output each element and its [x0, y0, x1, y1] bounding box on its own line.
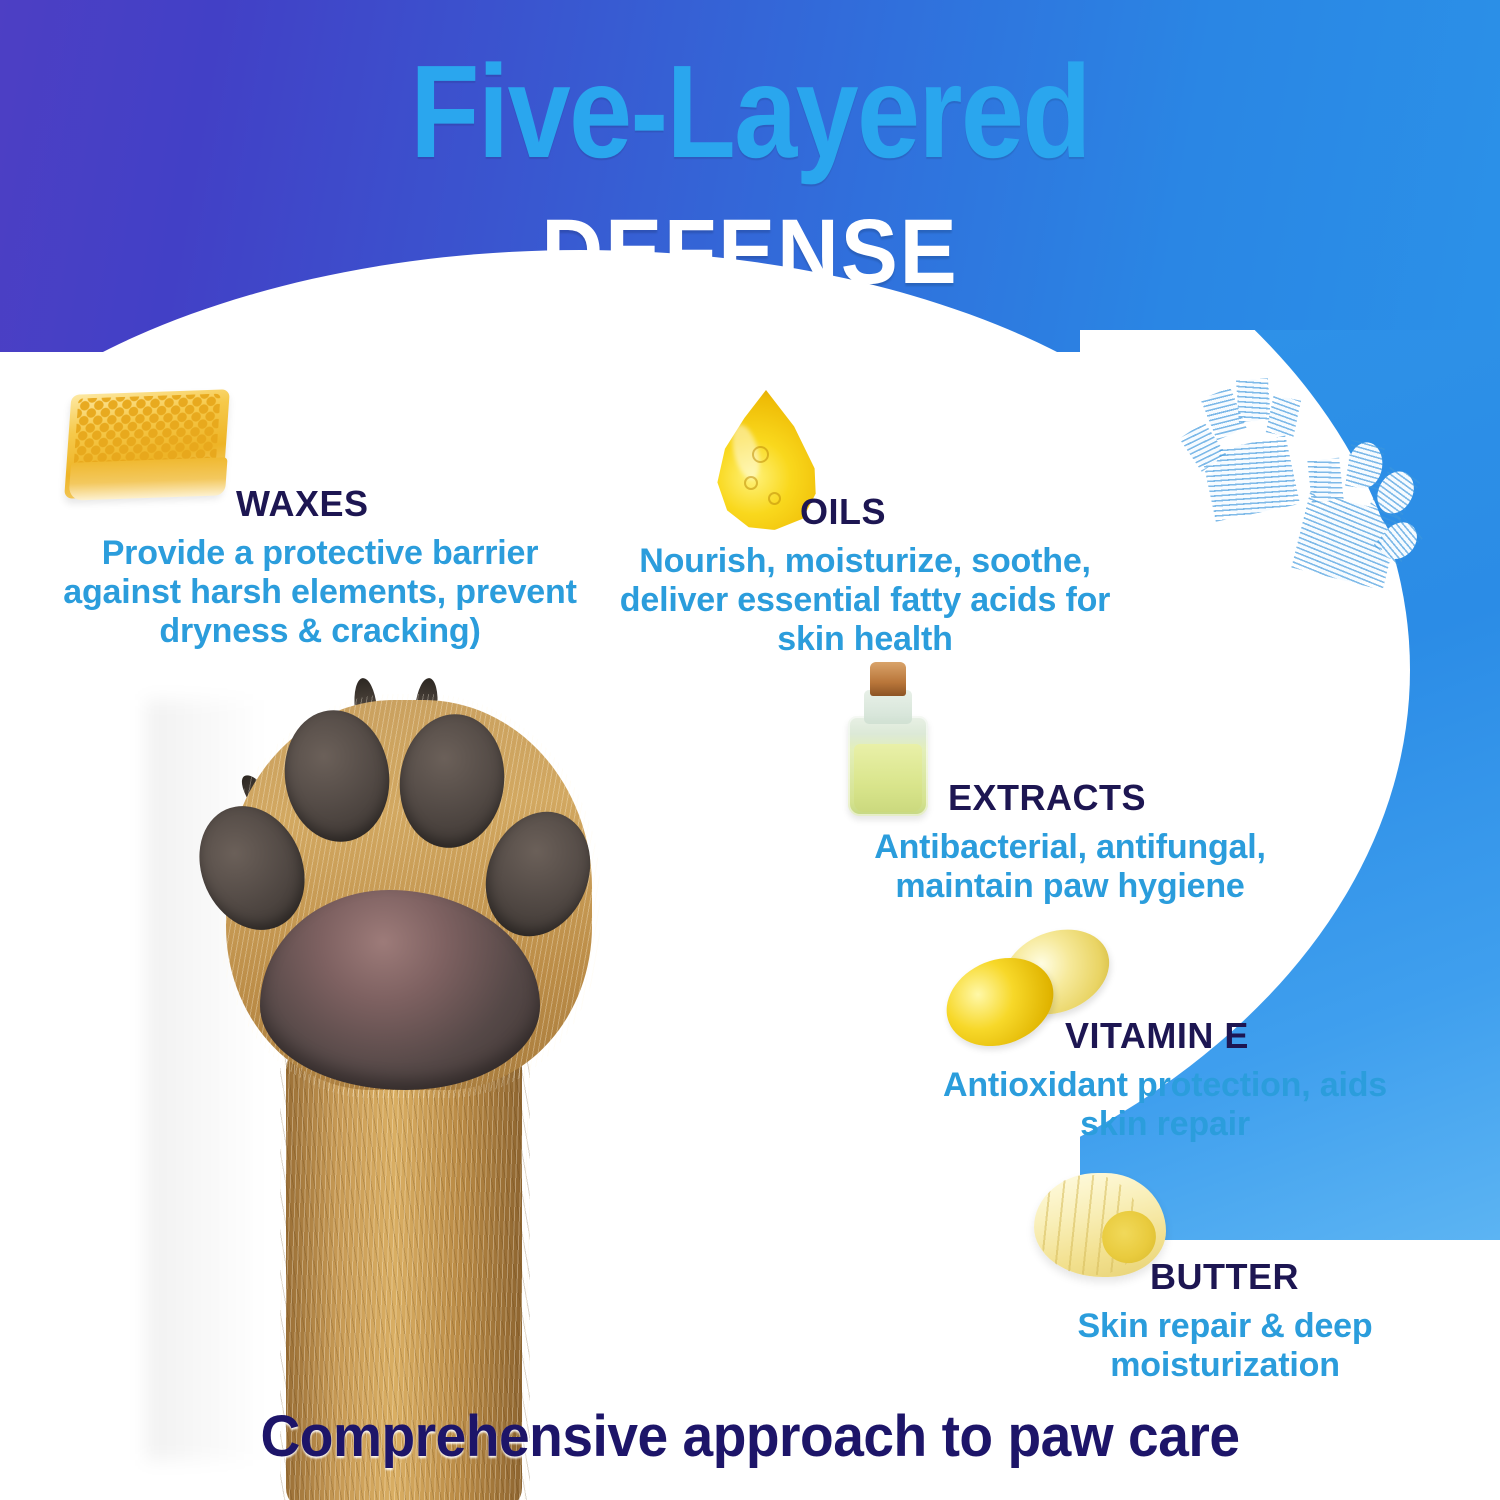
page-title: Five-Layered: [105, 46, 1395, 178]
ingredient-block-oils: OILS Nourish, moisturize, soothe, delive…: [600, 382, 1130, 540]
ingredient-description: Nourish, moisturize, soothe, deliver ess…: [600, 542, 1130, 658]
ingredient-block-extracts: EXTRACTS Antibacterial, antifungal, main…: [820, 660, 1320, 780]
ingredient-block-vitamin-e: VITAMIN E Antioxidant protection, aids s…: [925, 930, 1405, 1050]
ingredient-description: Skin repair & deep moisturization: [1010, 1307, 1440, 1385]
infographic-poster: Five-Layered DEFENSE WAXES Provide a pr: [0, 0, 1500, 1500]
ingredient-block-waxes: WAXES Provide a protective barrier again…: [40, 382, 600, 540]
ingredient-block-butter: BUTTER Skin repair & deep moisturization: [1010, 1165, 1440, 1285]
ingredient-description: Provide a protective barrier against har…: [40, 534, 600, 650]
dog-paw-photo: [140, 640, 660, 1500]
ingredient-name: VITAMIN E: [925, 1018, 1405, 1054]
ingredient-description: Antibacterial, antifungal, maintain paw …: [820, 828, 1320, 906]
ingredient-name: EXTRACTS: [820, 780, 1320, 816]
ingredient-name: BUTTER: [1010, 1259, 1440, 1295]
ingredient-description: Antioxidant protection, aids skin repair: [925, 1066, 1405, 1144]
ingredient-name: OILS: [600, 494, 1130, 530]
footer-tagline: Comprehensive approach to paw care: [38, 1408, 1463, 1466]
ingredient-name: WAXES: [40, 486, 600, 522]
